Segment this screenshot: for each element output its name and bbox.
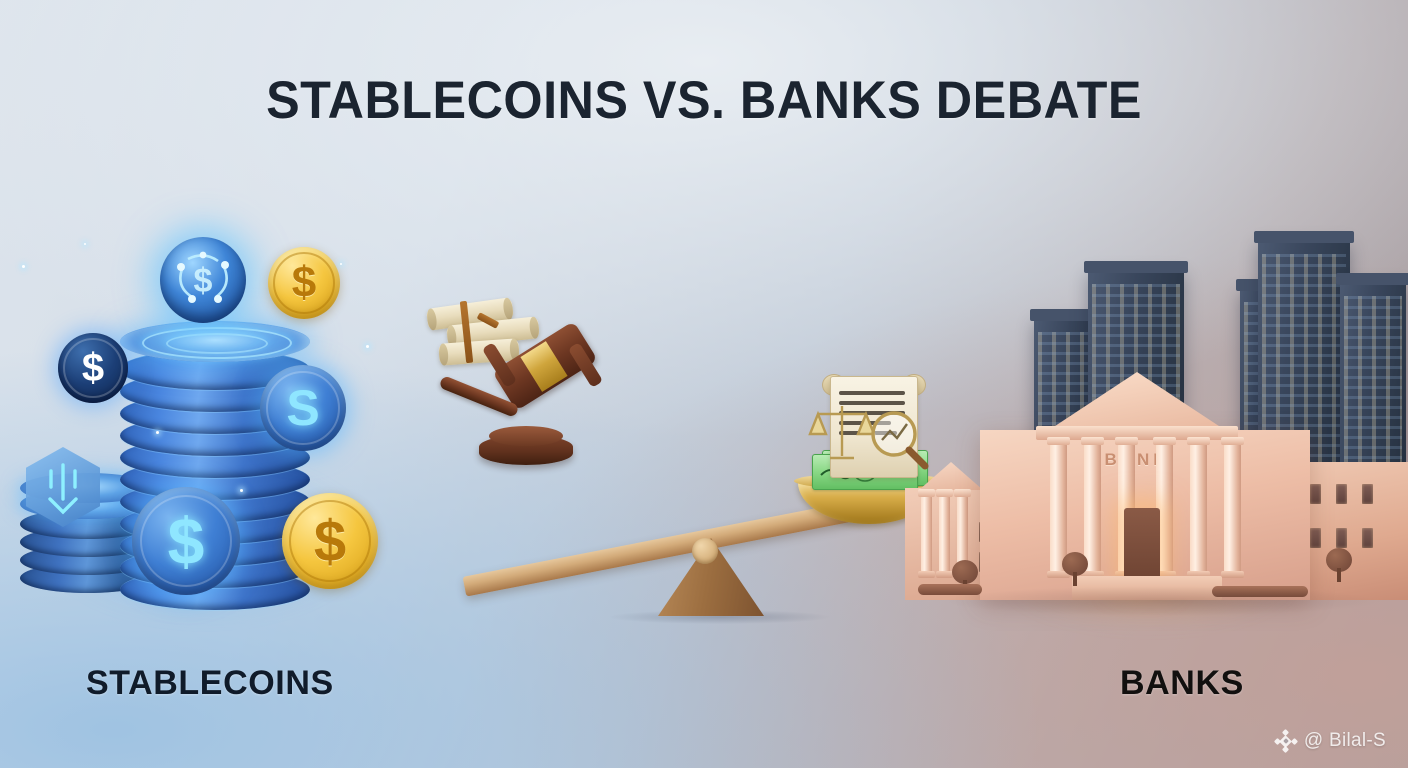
- bank-main-building: BANK: [980, 430, 1310, 600]
- svg-text:$: $: [194, 262, 213, 300]
- gold-coin-lower: $: [282, 493, 378, 589]
- bank-ground-shadow: [940, 586, 1380, 616]
- magnifying-glass-icon: [808, 372, 936, 480]
- infographic-canvas: STABLECOINS VS. BANKS DEBATE: [0, 0, 1408, 768]
- tree-right: [1326, 548, 1352, 582]
- network-coin: $: [160, 237, 246, 323]
- dollar-coin-dark: $: [58, 333, 128, 403]
- gold-coin-upper: $: [268, 247, 340, 319]
- right-side-label: BANKS: [1120, 664, 1244, 703]
- stablecoins-illustration: $ $ S $ $ $: [10, 225, 410, 635]
- diamond-sparkle-icon: [1275, 730, 1297, 752]
- tree-mid: [1062, 552, 1088, 586]
- seesaw-pivot: [692, 538, 718, 564]
- s-token-coin: S: [260, 365, 346, 451]
- left-side-label: STABLECOINS: [86, 664, 334, 703]
- regulation-scroll-document: [808, 372, 936, 480]
- seesaw-illustration: [460, 430, 960, 615]
- bank-entrance-door: [1124, 508, 1160, 580]
- watermark-handle: @ Bilal-S: [1304, 730, 1386, 752]
- watermark: @ Bilal-S: [1275, 730, 1386, 752]
- dollar-coin-glow: $: [132, 487, 240, 595]
- page-title: STABLECOINS VS. BANKS DEBATE: [35, 70, 1373, 131]
- banks-illustration: BANK: [940, 230, 1408, 630]
